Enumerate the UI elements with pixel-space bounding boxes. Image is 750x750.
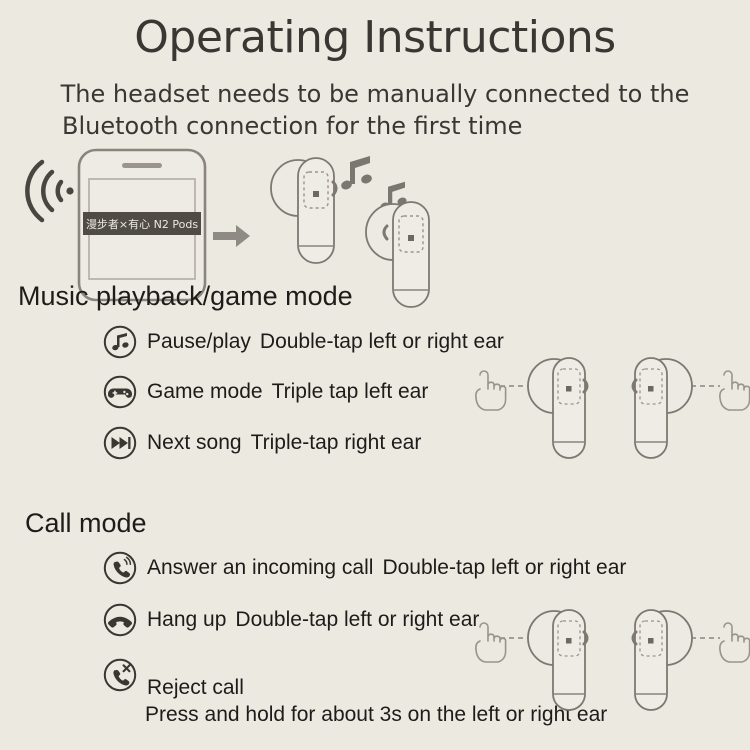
instruction-row-next-song: Next songTriple-tap right ear: [103, 426, 421, 460]
bluetooth-signal-waves-icon: [27, 162, 61, 220]
tap-hand-icon: [720, 371, 750, 410]
instruction-text-game-mode: Game modeTriple tap left ear: [147, 380, 428, 404]
arrow-right-icon: [213, 225, 250, 247]
phone-ring-circle-icon: [103, 551, 137, 585]
page-title: Operating Instructions: [0, 12, 750, 63]
earbud-tap-diagram-music: [470, 352, 750, 462]
tap-hand-icon: [476, 371, 506, 410]
earbud-icon: [366, 202, 429, 307]
tap-hand-icon: [720, 623, 750, 662]
instruction-text-hang-up: Hang upDouble-tap left or right ear: [147, 608, 479, 632]
phone-speaker-grille: [122, 163, 162, 168]
earbud-icon: [633, 358, 692, 458]
earbud-tap-diagram-call: [470, 604, 750, 714]
smartphone-icon: 漫步者×有心 N2 Pods: [79, 150, 205, 300]
page-subtitle: The headset needs to be manually connect…: [0, 78, 750, 142]
instruction-text-reject-call: Reject call: [147, 676, 244, 700]
action-label-game-mode: Game mode: [147, 380, 263, 403]
gesture-label-game-mode: Triple tap left ear: [272, 380, 429, 403]
earbud-icon: [528, 610, 587, 710]
gamepad-circle-icon: [103, 375, 137, 409]
signal-source-dot: [66, 187, 73, 194]
action-label-answer-call: Answer an incoming call: [147, 556, 373, 579]
section-heading-music: Music playback/game mode: [18, 281, 353, 312]
gesture-label-next-song: Triple-tap right ear: [251, 431, 422, 454]
phone-reject-circle-icon: [103, 658, 137, 692]
reject-x-mark: [124, 665, 130, 671]
next-track-circle-icon: [103, 426, 137, 460]
action-label-hang-up: Hang up: [147, 608, 226, 631]
instruction-text-next-song: Next songTriple-tap right ear: [147, 431, 421, 455]
phone-hangup-circle-icon: [103, 603, 137, 637]
instruction-row-game-mode: Game modeTriple tap left ear: [103, 375, 428, 409]
instruction-row-pause-play: Pause/playDouble-tap left or right ear: [103, 325, 504, 359]
instruction-text-answer-call: Answer an incoming callDouble-tap left o…: [147, 556, 626, 580]
gesture-label-hang-up: Double-tap left or right ear: [235, 608, 479, 631]
instruction-row-reject-call: Reject call: [103, 658, 244, 700]
music-notes-icon: [340, 156, 408, 211]
operating-instructions-page: Operating Instructions The headset needs…: [0, 0, 750, 750]
earbud-icon: [528, 358, 587, 458]
music-note-circle-icon: [103, 325, 137, 359]
tap-hand-icon: [476, 623, 506, 662]
gesture-label-pause-play: Double-tap left or right ear: [260, 330, 504, 353]
action-label-next-song: Next song: [147, 431, 242, 454]
action-label-pause-play: Pause/play: [147, 330, 251, 353]
earbud-icon: [633, 610, 692, 710]
subtitle-line-2: Bluetooth connection for the first time: [0, 110, 750, 142]
section-heading-call: Call mode: [25, 508, 147, 539]
phone-device-name: 漫步者×有心 N2 Pods: [86, 217, 198, 231]
instruction-row-answer-call: Answer an incoming callDouble-tap left o…: [103, 551, 626, 585]
earbud-icon: [271, 158, 336, 263]
instruction-row-hang-up: Hang upDouble-tap left or right ear: [103, 603, 479, 637]
gesture-label-answer-call: Double-tap left or right ear: [382, 556, 626, 579]
instruction-text-pause-play: Pause/playDouble-tap left or right ear: [147, 330, 504, 354]
pairing-illustration: 漫步者×有心 N2 Pods: [0, 148, 750, 283]
subtitle-line-1: The headset needs to be manually connect…: [0, 78, 750, 110]
action-label-reject-call: Reject call: [147, 676, 244, 699]
